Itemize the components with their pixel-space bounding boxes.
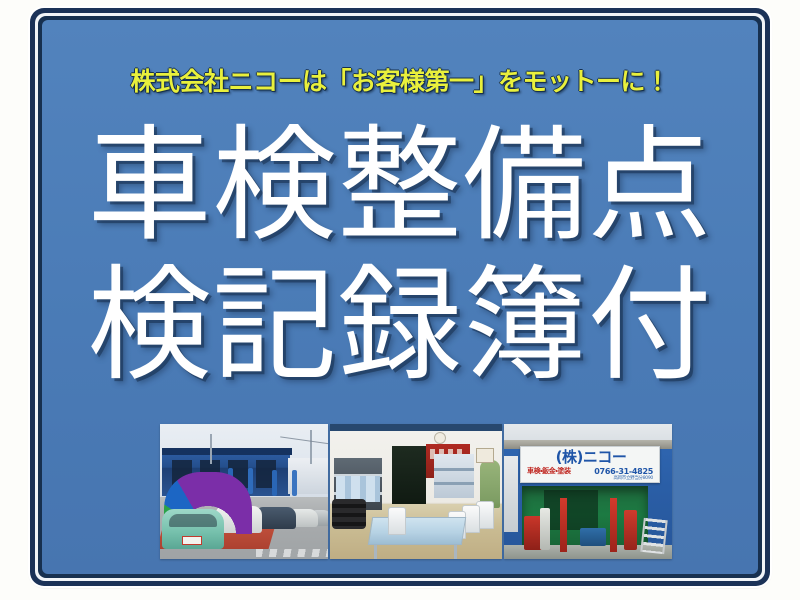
banner-flag — [292, 470, 297, 496]
doorway — [392, 446, 426, 504]
workshop-equipment — [540, 508, 550, 550]
table-leg — [454, 543, 457, 559]
ceiling-band — [330, 424, 502, 431]
utility-pole — [210, 434, 212, 464]
tire-stack — [332, 499, 366, 529]
banner-title-line-2: 検記録簿付 — [42, 256, 758, 396]
banner-headline: 株式会社ニコーは「お客様第一」をモットーに！ — [42, 62, 758, 98]
banner-title-line-1: 車検整備点 — [42, 116, 758, 256]
parked-car — [256, 507, 296, 529]
glass-table — [368, 517, 466, 545]
building-roof — [162, 448, 292, 455]
signboard-telephone: 0766-31-4825 高岡市立野当分8090 — [594, 467, 653, 481]
wall-picture-frame — [476, 448, 494, 463]
banner-frame-outer: 株式会社ニコーは「お客様第一」をモットーに！ 車検整備点 検記録簿付 — [30, 8, 770, 586]
banner-blue-panel: 株式会社ニコーは「お客様第一」をモットーに！ 車検整備点 検記録簿付 — [42, 20, 758, 574]
step-ladder — [640, 518, 667, 554]
garage-bay-shadow — [544, 490, 598, 530]
vehicle-lift-post — [560, 498, 567, 552]
signboard-tel-note: 高岡市立野当分8090 — [594, 476, 653, 481]
banner-frame-inner: 株式会社ニコーは「お客様第一」をモットーに！ 車検整備点 検記録簿付 — [38, 16, 762, 578]
photo-workshop-garage: (株)ニコー 車検・鈑金・塗装 0766-31-4825 高岡市立野当分8090 — [504, 424, 672, 559]
photo-strip: (株)ニコー 車検・鈑金・塗装 0766-31-4825 高岡市立野当分8090 — [160, 424, 672, 559]
company-signboard: (株)ニコー 車検・鈑金・塗装 0766-31-4825 高岡市立野当分8090 — [520, 446, 660, 483]
table-leg — [374, 543, 377, 559]
signboard-services: 車検・鈑金・塗装 — [527, 468, 571, 475]
vehicle-lift-post — [610, 498, 617, 552]
workshop-equipment — [580, 528, 606, 546]
banner-title: 車検整備点 検記録簿付 — [42, 116, 758, 396]
utility-pole — [310, 430, 312, 464]
right-shelving-unit — [434, 454, 474, 498]
banner-flag — [248, 468, 253, 494]
signboard-company-name: (株)ニコー — [529, 448, 653, 467]
license-plate — [182, 536, 202, 545]
photo-showroom-interior — [330, 424, 502, 559]
banner-frame-middle: 株式会社ニコーは「お客様第一」をモットーに！ 車検整備点 検記録簿付 — [35, 13, 765, 581]
banner-flag — [272, 470, 277, 496]
side-wall — [504, 456, 518, 532]
signboard-tel-number: 0766-31-4825 — [594, 467, 653, 476]
workshop-equipment — [624, 510, 637, 550]
road-stripes — [256, 549, 328, 557]
white-chair — [388, 507, 406, 535]
wall-clock-icon — [434, 432, 446, 444]
banner-root: 株式会社ニコーは「お客様第一」をモットーに！ 車検整備点 検記録簿付 — [0, 0, 800, 600]
photo-dealership-lot — [160, 424, 328, 559]
